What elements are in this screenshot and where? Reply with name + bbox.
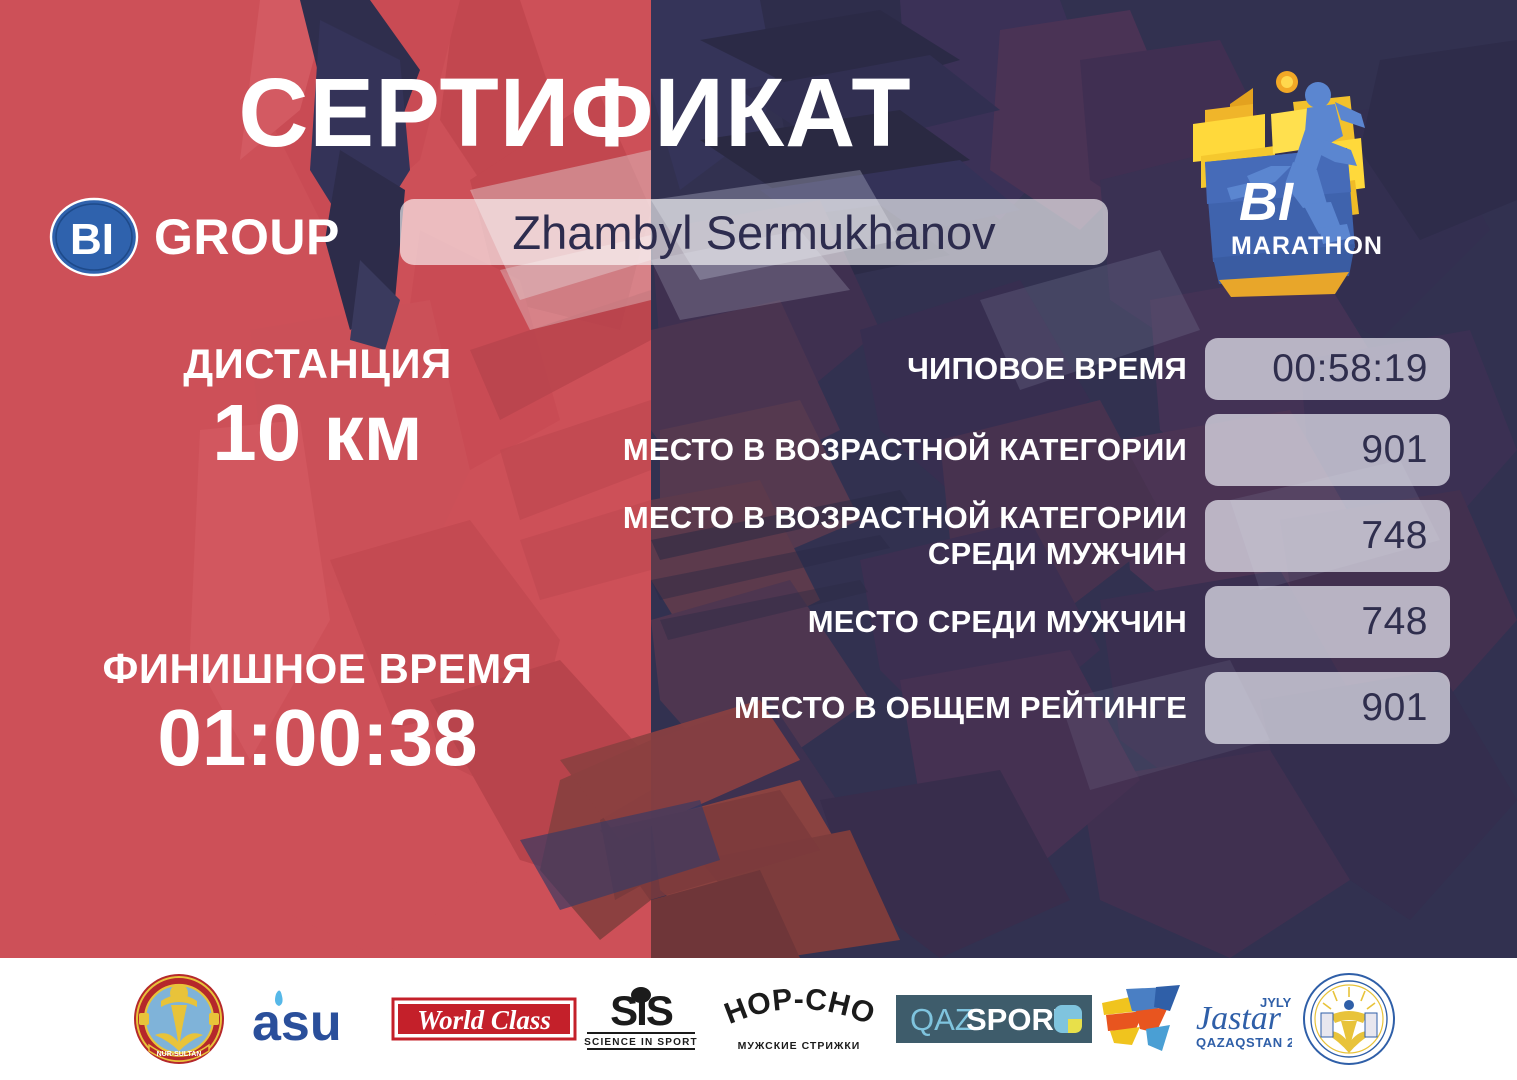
svg-text:BI: BI xyxy=(70,215,114,264)
sponsor-caption: World Class xyxy=(417,1005,551,1035)
finish-time-block: ФИНИШНОЕ ВРЕМЯ 01:00:38 xyxy=(95,645,540,780)
marathon-bi-text: BI xyxy=(1239,172,1294,232)
sponsor-footer: NUR-SULTAN asu World Class SIS SC xyxy=(0,958,1517,1080)
stat-pill: 901 xyxy=(1205,414,1450,486)
sponsor-logo-jastar: Jastar JYLY QAZAQSTAN 2019 xyxy=(1094,973,1294,1065)
distance-label: ДИСТАНЦИЯ xyxy=(95,340,540,387)
sponsor-suffix: JYLY xyxy=(1260,995,1292,1010)
stat-pill: 748 xyxy=(1205,500,1450,572)
finish-time-value: 01:00:38 xyxy=(95,696,540,780)
sponsor-caption: NUR-SULTAN xyxy=(156,1051,201,1058)
stat-value: 748 xyxy=(1361,600,1428,644)
sponsor-logo-ministry-seal xyxy=(1294,973,1404,1065)
sponsor-tagline: МУЖСКИЕ СТРИЖКИ xyxy=(737,1040,860,1052)
sponsor-logo-qazsport: QAZ SPORT xyxy=(894,973,1094,1065)
bi-marathon-logo: BI MARATHON xyxy=(1175,62,1405,297)
athlete-name: Zhambyl Sermukhanov xyxy=(512,205,995,260)
marathon-word-text: MARATHON xyxy=(1231,232,1383,260)
stat-label: МЕСТО СРЕДИ МУЖЧИН xyxy=(610,604,1187,640)
stat-pill: 00:58:19 xyxy=(1205,338,1450,400)
athlete-name-banner: Zhambyl Sermukhanov xyxy=(400,199,1108,265)
stat-row: ЧИПОВОЕ ВРЕМЯ 00:58:19 xyxy=(610,338,1450,400)
stat-value: 748 xyxy=(1361,514,1428,558)
bi-group-label: GROUP xyxy=(154,212,340,262)
sponsor-logo-sis: SIS SCIENCE IN SPORT xyxy=(579,973,704,1065)
stat-pill: 901 xyxy=(1205,672,1450,744)
sponsor-tagline: SCIENCE IN SPORT xyxy=(584,1037,698,1048)
stats-list: ЧИПОВОЕ ВРЕМЯ 00:58:19 МЕСТО В ВОЗРАСТНО… xyxy=(610,338,1450,744)
stat-label: ЧИПОВОЕ ВРЕМЯ xyxy=(610,351,1187,387)
stat-value: 901 xyxy=(1361,428,1428,472)
page-title: СЕРТИФИКАТ xyxy=(0,62,1150,165)
finish-time-label: ФИНИШНОЕ ВРЕМЯ xyxy=(95,645,540,692)
stat-pill: 748 xyxy=(1205,586,1450,658)
stat-value: 00:58:19 xyxy=(1272,347,1428,391)
bi-badge-icon: BI xyxy=(48,196,140,278)
stat-row: МЕСТО В ВОЗРАСТНОЙ КАТЕГОРИИ СРЕДИ МУЖЧИ… xyxy=(610,500,1450,572)
sponsor-caption-qaz: QAZ xyxy=(910,1002,974,1037)
certificate-page: СЕРТИФИКАТ BI GROUP Zhambyl Sermukhanov xyxy=(0,0,1517,1080)
sponsor-logo-asu: asu xyxy=(244,973,389,1065)
sponsor-logo-world-class: World Class xyxy=(389,973,579,1065)
stat-label: МЕСТО В ВОЗРАСТНОЙ КАТЕГОРИИ СРЕДИ МУЖЧИ… xyxy=(610,500,1187,572)
stat-row: МЕСТО В ОБЩЕМ РЕЙТИНГЕ 901 xyxy=(610,672,1450,744)
distance-block: ДИСТАНЦИЯ 10 км xyxy=(95,340,540,475)
distance-value: 10 км xyxy=(95,391,540,475)
sponsor-caption: CHOP-CHOP xyxy=(706,983,880,1031)
stat-value: 901 xyxy=(1361,686,1428,730)
sponsor-logo-nur-sultan: NUR-SULTAN xyxy=(114,973,244,1065)
stat-row: МЕСТО В ВОЗРАСТНОЙ КАТЕГОРИИ 901 xyxy=(610,414,1450,486)
stat-row: МЕСТО СРЕДИ МУЖЧИН 748 xyxy=(610,586,1450,658)
stat-label: МЕСТО В ВОЗРАСТНОЙ КАТЕГОРИИ xyxy=(610,432,1187,468)
stat-label: МЕСТО В ОБЩЕМ РЕЙТИНГЕ xyxy=(610,690,1187,726)
bi-group-logo: BI GROUP xyxy=(48,196,340,278)
sponsor-tagline: QAZAQSTAN 2019 xyxy=(1196,1035,1292,1050)
sponsor-logo-chop-chop: CHOP-CHOP МУЖСКИЕ СТРИЖКИ xyxy=(704,973,894,1065)
sponsor-caption: asu xyxy=(252,994,342,1052)
